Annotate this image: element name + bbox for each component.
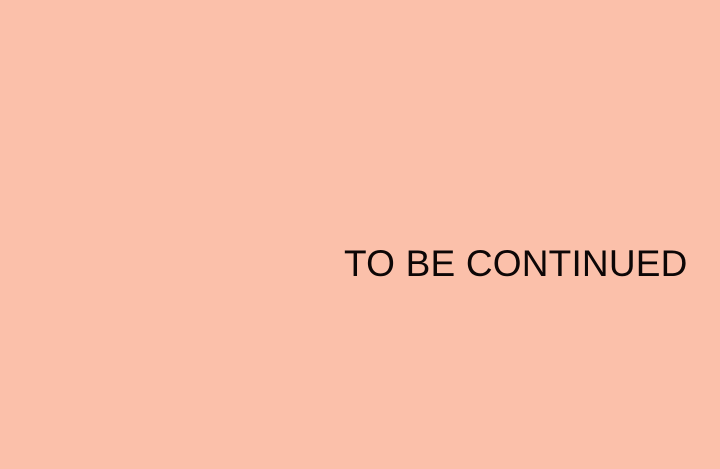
end-card-screen: TO BE CONTINUED	[0, 0, 720, 469]
to-be-continued-caption: TO BE CONTINUED	[344, 243, 688, 284]
caption-layer: TO BE CONTINUED	[0, 0, 720, 469]
